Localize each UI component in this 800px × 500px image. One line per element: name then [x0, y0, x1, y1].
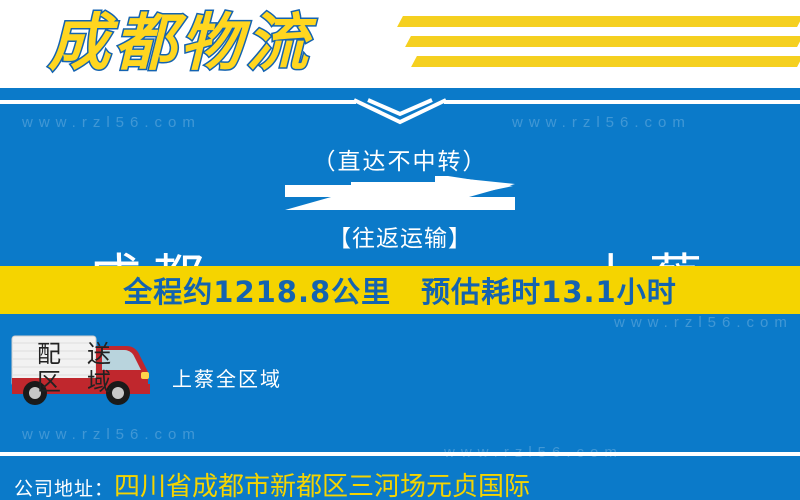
chevron-down-icon [352, 92, 448, 126]
footer-divider [0, 452, 800, 456]
watermark: www.rzl56.com [22, 426, 201, 443]
header: 成都物流 [0, 0, 800, 88]
coverage-area-text: 上蔡全区域 [172, 363, 282, 392]
watermark: www.rzl56.com [614, 314, 793, 331]
address-label: 公司地址： [14, 474, 114, 500]
page-title: 成都物流 [48, 4, 312, 82]
truck-box-label: 配 送 区 域 [24, 340, 124, 396]
watermark: www.rzl56.com [22, 114, 201, 131]
stripe-2 [405, 36, 800, 47]
main-panel: www.rzl56.com www.rzl56.com www.rzl56.co… [0, 88, 800, 500]
distance-band: 全程约1218.8公里 预估耗时13.1小时 [0, 266, 800, 314]
company-address: 公司地址： 四川省成都市新都区三河场元贞国际 [14, 466, 530, 500]
stripe-1 [397, 16, 800, 27]
truck-box-char: 区 [24, 368, 74, 396]
roundtrip-note: 【往返运输】 [275, 219, 525, 253]
divider-right [444, 100, 800, 104]
stripe-3 [411, 56, 800, 67]
truck-box-char: 域 [74, 368, 124, 396]
bidirectional-arrow-icon [285, 176, 515, 218]
truck-box-char: 送 [74, 340, 124, 368]
direct-shipping-note: （直达不中转） [275, 142, 525, 176]
distance-duration-text: 全程约1218.8公里 预估耗时13.1小时 [123, 269, 676, 311]
divider-left [0, 100, 356, 104]
decorative-stripes [380, 14, 800, 76]
logistics-banner: 成都物流 www.rzl56.com www.rzl56.com www.rzl… [0, 0, 800, 500]
address-value: 四川省成都市新都区三河场元贞国际 [114, 466, 530, 500]
truck-box-char: 配 [24, 340, 74, 368]
watermark: www.rzl56.com [512, 114, 691, 131]
